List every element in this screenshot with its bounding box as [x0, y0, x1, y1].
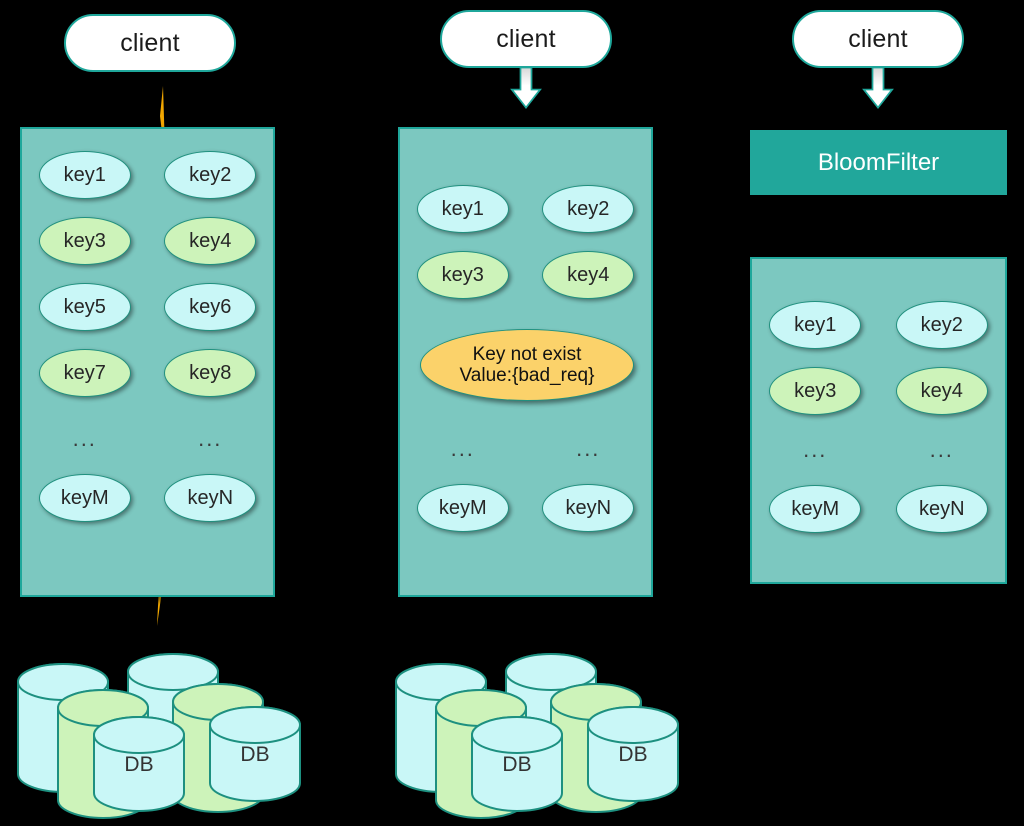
key-row: key3 key4: [400, 251, 651, 299]
key-label: key4: [567, 264, 609, 287]
key-label: key3: [794, 380, 836, 403]
key-oval[interactable]: key6: [164, 283, 256, 331]
key-oval[interactable]: key3: [769, 367, 861, 415]
key-label: key4: [189, 230, 231, 253]
key-row: key5 key6: [22, 283, 273, 331]
key-oval[interactable]: key1: [769, 301, 861, 349]
key-label: key3: [442, 264, 484, 287]
key-oval[interactable]: key3: [417, 251, 509, 299]
db-cluster-middle: DB DB: [388, 640, 708, 820]
key-oval[interactable]: keyN: [164, 474, 256, 522]
key-oval[interactable]: key1: [39, 151, 131, 199]
key-row: key1 key2: [22, 151, 273, 199]
down-arrow-icon: [856, 66, 900, 110]
ellipsis-label: ...: [39, 415, 131, 463]
key-row: key3 key4: [752, 367, 1005, 415]
client-label: client: [848, 25, 908, 54]
down-arrow-icon: [504, 66, 548, 110]
key-not-exist-notice[interactable]: Key not exist Value:{bad_req}: [420, 329, 634, 401]
key-row: key1 key2: [400, 185, 651, 233]
client-label: client: [120, 29, 180, 58]
key-row: key7 key8: [22, 349, 273, 397]
key-row: key3 key4: [22, 217, 273, 265]
column-left: client key1 key2 key3 key4: [0, 0, 340, 826]
key-label: key2: [189, 164, 231, 187]
key-label: key8: [189, 362, 231, 385]
ellipsis-label: ...: [417, 425, 509, 473]
diagram-canvas: client key1 key2 key3 key4: [0, 0, 1024, 826]
client-node-left[interactable]: client: [64, 14, 236, 72]
db-label: DB: [482, 753, 552, 777]
cache-panel-right: key1 key2 key3 key4 ... ... keyM keyN: [750, 257, 1007, 584]
key-label: key4: [921, 380, 963, 403]
key-label: key5: [64, 296, 106, 319]
key-oval[interactable]: keyM: [39, 474, 131, 522]
notice-line-1: Key not exist: [473, 344, 582, 365]
key-label: key1: [794, 314, 836, 337]
key-label: keyN: [565, 497, 611, 520]
key-oval[interactable]: key4: [542, 251, 634, 299]
key-label: keyN: [919, 498, 965, 521]
key-oval[interactable]: key2: [896, 301, 988, 349]
key-label: key2: [567, 198, 609, 221]
db-label: DB: [598, 743, 668, 767]
key-label: key1: [64, 164, 106, 187]
key-label: key2: [921, 314, 963, 337]
key-oval[interactable]: key7: [39, 349, 131, 397]
bloom-filter-label: BloomFilter: [818, 149, 939, 177]
key-oval[interactable]: keyN: [542, 484, 634, 532]
ellipsis-label: ...: [769, 426, 861, 474]
db-label: DB: [104, 753, 174, 777]
key-label: key6: [189, 296, 231, 319]
key-label: keyM: [791, 498, 839, 521]
ellipsis-label: ...: [896, 426, 988, 474]
ellipsis-label: ...: [164, 415, 256, 463]
key-row: key1 key2: [752, 301, 1005, 349]
key-oval[interactable]: key3: [39, 217, 131, 265]
notice-line-2: Value:{bad_req}: [460, 365, 595, 386]
db-cylinders: [10, 640, 330, 820]
cache-panel-left: key1 key2 key3 key4 key5 key6 key7 key8 …: [20, 127, 275, 597]
key-oval[interactable]: key4: [164, 217, 256, 265]
key-oval[interactable]: key2: [164, 151, 256, 199]
bloom-filter-node[interactable]: BloomFilter: [750, 130, 1007, 195]
key-oval[interactable]: key1: [417, 185, 509, 233]
key-oval[interactable]: key4: [896, 367, 988, 415]
key-row: keyM keyN: [400, 484, 651, 532]
column-middle: client key1 key2 key3 key4 K: [370, 0, 690, 826]
key-oval[interactable]: key5: [39, 283, 131, 331]
key-oval[interactable]: keyM: [769, 485, 861, 533]
key-oval[interactable]: key2: [542, 185, 634, 233]
key-oval[interactable]: key8: [164, 349, 256, 397]
client-node-middle[interactable]: client: [440, 10, 612, 68]
key-oval[interactable]: keyN: [896, 485, 988, 533]
cache-panel-middle: key1 key2 key3 key4 Key not exist Value:…: [398, 127, 653, 597]
key-label: key7: [64, 362, 106, 385]
db-cylinders: [388, 640, 708, 820]
key-label: key3: [64, 230, 106, 253]
ellipsis-label: ...: [542, 425, 634, 473]
db-cluster-left: DB DB: [10, 640, 330, 820]
key-row-ellipsis: ... ...: [752, 426, 1005, 474]
key-label: keyM: [61, 487, 109, 510]
key-row: keyM keyN: [22, 474, 273, 522]
key-label: key1: [442, 198, 484, 221]
key-label: keyN: [187, 487, 233, 510]
key-row: keyM keyN: [752, 485, 1005, 533]
key-row-ellipsis: ... ...: [400, 425, 651, 473]
key-oval[interactable]: keyM: [417, 484, 509, 532]
client-node-right[interactable]: client: [792, 10, 964, 68]
client-label: client: [496, 25, 556, 54]
key-row-ellipsis: ... ...: [22, 415, 273, 463]
column-right: client BloomFilter key1 key2 key3: [720, 0, 1024, 826]
key-label: keyM: [439, 497, 487, 520]
db-label: DB: [220, 743, 290, 767]
